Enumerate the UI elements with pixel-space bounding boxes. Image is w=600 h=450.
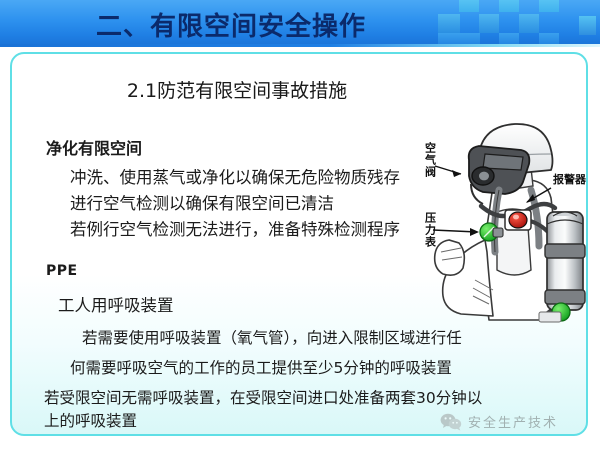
checker-square <box>438 14 460 33</box>
wechat-icon <box>440 413 462 431</box>
section-line: 进行空气检测以确保有限空间已清洁 <box>70 190 334 214</box>
section-heading-ppe: PPE <box>46 263 78 279</box>
section-line: 上的呼吸装置 <box>44 409 137 431</box>
checker-square <box>519 14 539 33</box>
checker-square <box>539 0 559 12</box>
header-underline <box>0 44 600 47</box>
section-line: 若例行空气检测无法进行，准备特殊检测程序 <box>70 216 400 240</box>
content-panel: 2.1防范有限空间事故措施 净化有限空间 冲洗、使用蒸气或净化以确保无危险物质残… <box>10 52 588 436</box>
checker-square <box>459 0 479 12</box>
label-pressure-gauge: 压力表 <box>423 212 436 248</box>
label-air-valve: 空气阀 <box>423 142 436 178</box>
section-line: 何需要呼吸空气的工作的员工提供至少5分钟的呼吸装置 <box>70 356 452 378</box>
scba-illustration: 空气阀 压力表 报警器 <box>427 120 588 325</box>
section-line: 冲洗、使用蒸气或净化以确保无危险物质残存 <box>70 164 400 188</box>
checker-decoration <box>440 0 600 47</box>
section-line: 若受限空间无需呼吸装置，在受限空间进口处准备两套30分钟以 <box>44 386 482 408</box>
section-line: 工人用呼吸装置 <box>58 292 174 316</box>
alarm-indicator <box>509 212 527 228</box>
scba-figure-svg <box>427 120 588 325</box>
section-line: 若需要使用呼吸装置（氧气管），向进入限制区域进行任 <box>82 326 462 348</box>
page-title: 二、有限空间安全操作 <box>96 6 366 43</box>
section-heading-purify: 净化有限空间 <box>46 135 142 159</box>
checker-square-right <box>579 16 596 35</box>
label-alarm: 报警器 <box>553 174 586 187</box>
checker-square <box>479 14 499 33</box>
slide-header: 二、有限空间安全操作 <box>0 0 600 47</box>
slide: 二、有限空间安全操作 2.1防范有限空间事故措施 净化有限空间 冲洗、使用蒸气或… <box>0 0 600 450</box>
watermark: 安全生产技术 <box>440 412 558 431</box>
watermark-text: 安全生产技术 <box>468 412 558 431</box>
checker-square <box>499 0 519 12</box>
